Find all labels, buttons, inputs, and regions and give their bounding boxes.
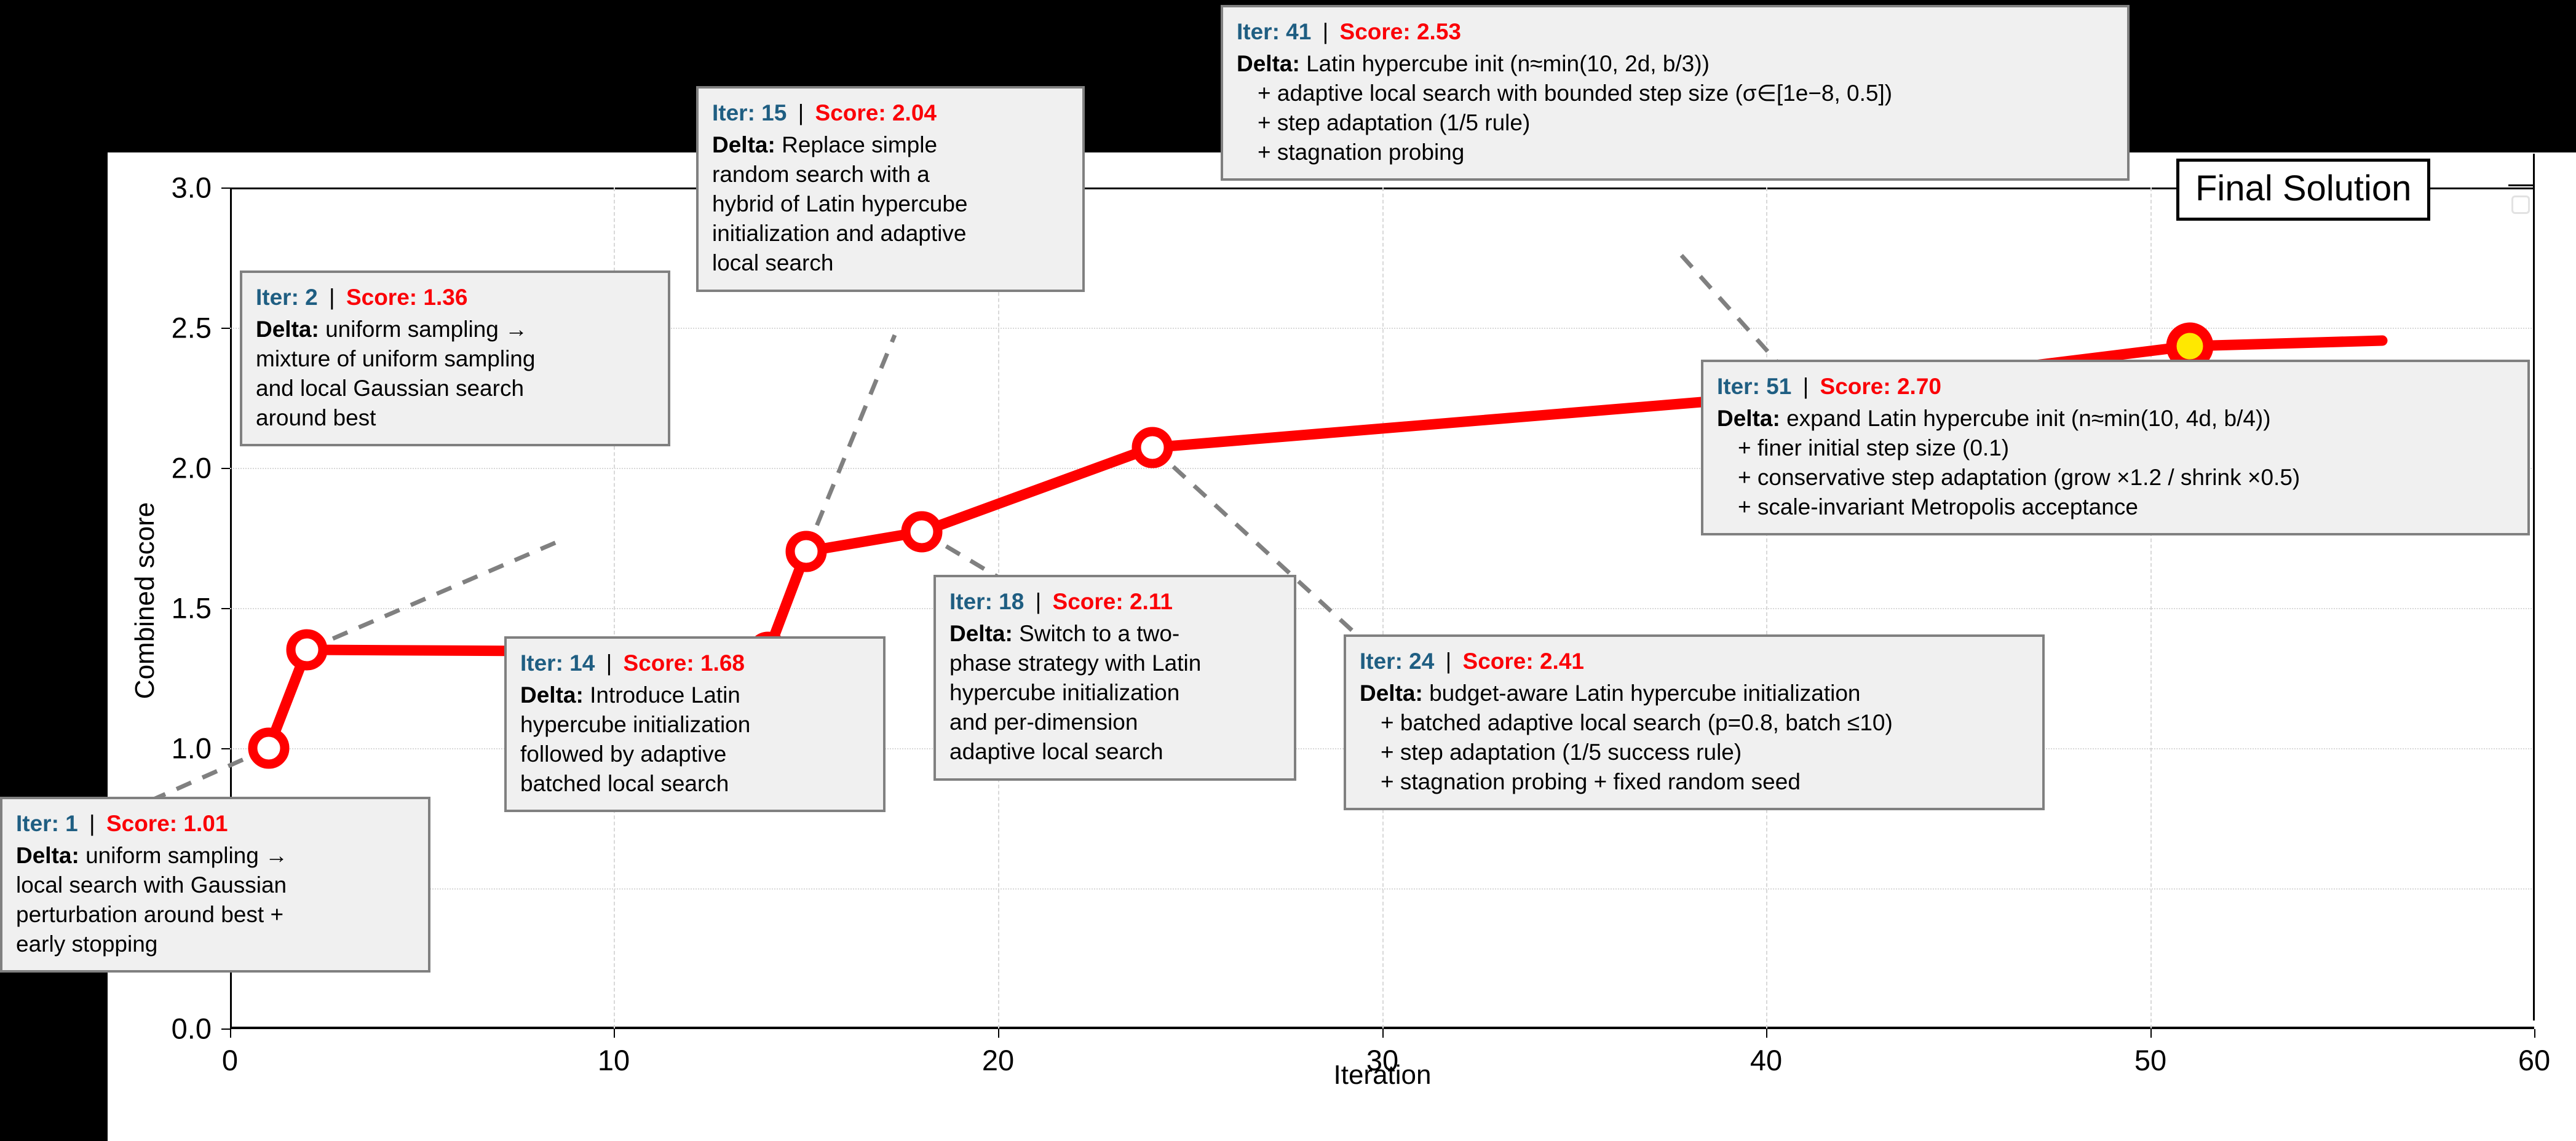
ytick-label-2-5: 2.5 (172, 311, 212, 345)
delta-line-2: hypercube initialization (520, 710, 871, 740)
ytick-label-0-0: 0.0 (172, 1012, 212, 1046)
delta-line-3: and local Gaussian search (256, 374, 656, 403)
annotation-body: Delta: uniform sampling → mixture of uni… (256, 315, 656, 433)
delta-line-3: + step adaptation (1/5 success rule) (1360, 738, 2030, 767)
header-separator: | (1318, 19, 1334, 44)
delta-line-3: + step adaptation (1/5 rule) (1237, 108, 2115, 138)
y-axis-title: Combined score (130, 502, 161, 699)
annotation-iter-14[interactable]: Iter: 14 | Score: 1.68 Delta: Introduce … (504, 636, 886, 812)
ytick-2-5 (221, 328, 230, 329)
delta-line-4: around best (256, 403, 656, 433)
delta-line-2: phase strategy with Latin (949, 649, 1282, 678)
delta-line-3: hybrid of Latin hypercube (712, 189, 1070, 219)
delta-label: Delta: (16, 843, 79, 868)
annotation-iter-51[interactable]: Iter: 51 | Score: 2.70 Delta: expand Lat… (1701, 360, 2530, 535)
annotation-body: Delta: uniform sampling → local search w… (16, 841, 416, 959)
delta-line-4: batched local search (520, 769, 871, 799)
xtick-label-20: 20 (982, 1043, 1014, 1077)
annotation-iter-15[interactable]: Iter: 15 | Score: 2.04 Delta: Replace si… (696, 86, 1085, 292)
delta-line-3: perturbation around best + (16, 900, 416, 930)
xtick-40 (1766, 1029, 1767, 1038)
annotation-iter-24[interactable]: Iter: 24 | Score: 2.41 Delta: budget-awa… (1344, 634, 2045, 810)
rounded-square-icon (2511, 195, 2530, 214)
annotation-header: Iter: 24 | Score: 2.41 (1360, 647, 2030, 676)
xtick-20 (998, 1029, 999, 1038)
figure-corner-rule (2508, 184, 2535, 186)
xtick-label-0: 0 (222, 1043, 238, 1077)
xtick-0 (230, 1029, 231, 1038)
score-label: Score: 2.41 (1463, 649, 1584, 674)
iter-label: Iter: 14 (520, 650, 595, 676)
gridline-y-1-5 (230, 608, 2534, 609)
ytick-label-2-0: 2.0 (172, 451, 212, 485)
iter-label: Iter: 51 (1717, 374, 1791, 399)
xtick-30 (1382, 1029, 1384, 1038)
delta-line-1: Replace simple (775, 132, 937, 157)
delta-label: Delta: (712, 132, 775, 157)
delta-line-1: expand Latin hypercube init (n≈min(10, 4… (1780, 406, 2271, 431)
delta-label: Delta: (1360, 681, 1423, 706)
figure-right-border (2533, 154, 2535, 1021)
delta-label: Delta: (256, 317, 319, 342)
xtick-60 (2534, 1029, 2535, 1038)
annotation-header: Iter: 1 | Score: 1.01 (16, 809, 416, 839)
ytick-1-0 (221, 748, 230, 749)
score-label: Score: 2.11 (1053, 589, 1173, 614)
final-solution-label: Final Solution (2195, 168, 2411, 208)
delta-line-1: uniform sampling → (319, 317, 528, 342)
header-separator: | (1441, 649, 1457, 674)
score-label: Score: 1.68 (624, 650, 745, 676)
annotation-iter-41[interactable]: Iter: 41 | Score: 2.53 Delta: Latin hype… (1221, 5, 2130, 181)
xtick-label-50: 50 (2134, 1043, 2166, 1077)
ytick-label-1-5: 1.5 (172, 591, 212, 625)
xtick-label-40: 40 (1750, 1043, 1782, 1077)
annotation-iter-1[interactable]: Iter: 1 | Score: 1.01 Delta: uniform sam… (0, 797, 430, 973)
annotation-header: Iter: 2 | Score: 1.36 (256, 283, 656, 312)
delta-label: Delta: (520, 682, 584, 708)
delta-label: Delta: (1717, 406, 1780, 431)
ytick-3-0 (221, 188, 230, 189)
ytick-1-5 (221, 608, 230, 609)
ytick-label-1-0: 1.0 (172, 732, 212, 765)
score-label: Score: 2.70 (1820, 374, 1941, 399)
iter-label: Iter: 1 (16, 811, 78, 836)
delta-line-2: + finer initial step size (0.1) (1717, 433, 2515, 463)
delta-line-4: early stopping (16, 930, 416, 959)
annotation-body: Delta: expand Latin hypercube init (n≈mi… (1717, 404, 2515, 522)
delta-line-3: followed by adaptive (520, 740, 871, 769)
header-separator: | (84, 811, 100, 836)
delta-line-4: + stagnation probing (1237, 138, 2115, 167)
annotation-body: Delta: Switch to a two- phase strategy w… (949, 619, 1282, 767)
score-label: Score: 1.36 (346, 285, 467, 310)
xtick-10 (614, 1029, 615, 1038)
annotation-iter-18[interactable]: Iter: 18 | Score: 2.11 Delta: Switch to … (933, 575, 1296, 781)
annotation-header: Iter: 14 | Score: 1.68 (520, 649, 871, 678)
annotation-body: Delta: Latin hypercube init (n≈min(10, 2… (1237, 49, 2115, 167)
delta-line-4: + stagnation probing + fixed random seed (1360, 767, 2030, 797)
delta-line-1: budget-aware Latin hypercube initializat… (1423, 681, 1861, 706)
header-separator: | (601, 650, 617, 676)
delta-line-3: + conservative step adaptation (grow ×1.… (1717, 463, 2515, 492)
gridline-y-0-5 (230, 888, 2534, 890)
delta-line-2: random search with a (712, 160, 1070, 189)
delta-line-4: and per-dimension (949, 708, 1282, 737)
header-separator: | (324, 285, 340, 310)
score-label: Score: 2.53 (1340, 19, 1461, 44)
delta-line-5: adaptive local search (949, 737, 1282, 767)
xtick-label-60: 60 (2518, 1043, 2550, 1077)
delta-line-1: Introduce Latin (584, 682, 740, 708)
delta-line-4: initialization and adaptive (712, 219, 1070, 248)
annotation-body: Delta: Replace simple random search with… (712, 130, 1070, 278)
iter-label: Iter: 2 (256, 285, 318, 310)
delta-line-2: mixture of uniform sampling (256, 344, 656, 374)
delta-line-2: local search with Gaussian (16, 871, 416, 900)
iter-label: Iter: 15 (712, 100, 787, 125)
annotation-body: Delta: budget-aware Latin hypercube init… (1360, 679, 2030, 797)
iter-label: Iter: 24 (1360, 649, 1434, 674)
delta-line-1: Switch to a two- (1013, 621, 1179, 646)
delta-label: Delta: (949, 621, 1013, 646)
annotation-header: Iter: 41 | Score: 2.53 (1237, 17, 2115, 47)
annotation-body: Delta: Introduce Latin hypercube initial… (520, 681, 871, 799)
iter-label: Iter: 18 (949, 589, 1024, 614)
delta-line-4: + scale-invariant Metropolis acceptance (1717, 492, 2515, 522)
ytick-0-0 (221, 1028, 230, 1030)
delta-line-3: hypercube initialization (949, 678, 1282, 708)
header-separator: | (1031, 589, 1047, 614)
delta-label: Delta: (1237, 51, 1300, 76)
delta-line-5: local search (712, 248, 1070, 278)
iter-label: Iter: 41 (1237, 19, 1311, 44)
delta-line-1: Latin hypercube init (n≈min(10, 2d, b/3)… (1300, 51, 1710, 76)
score-label: Score: 1.01 (106, 811, 228, 836)
delta-line-2: + adaptive local search with bounded ste… (1237, 79, 2115, 108)
xtick-50 (2150, 1029, 2152, 1038)
annotation-iter-2[interactable]: Iter: 2 | Score: 1.36 Delta: uniform sam… (240, 270, 670, 446)
delta-line-1: uniform sampling → (79, 843, 288, 868)
annotation-header: Iter: 18 | Score: 2.11 (949, 587, 1282, 617)
ytick-2-0 (221, 468, 230, 469)
x-axis-title: Iteration (1334, 1060, 1432, 1091)
xtick-label-10: 10 (598, 1043, 630, 1077)
final-solution-callout[interactable]: Final Solution (2176, 159, 2430, 221)
ytick-label-3-0: 3.0 (172, 171, 212, 205)
annotation-header: Iter: 51 | Score: 2.70 (1717, 372, 2515, 401)
annotation-header: Iter: 15 | Score: 2.04 (712, 98, 1070, 128)
header-separator: | (1798, 374, 1814, 399)
score-label: Score: 2.04 (815, 100, 937, 125)
delta-line-2: + batched adaptive local search (p=0.8, … (1360, 708, 2030, 738)
header-separator: | (793, 100, 809, 125)
